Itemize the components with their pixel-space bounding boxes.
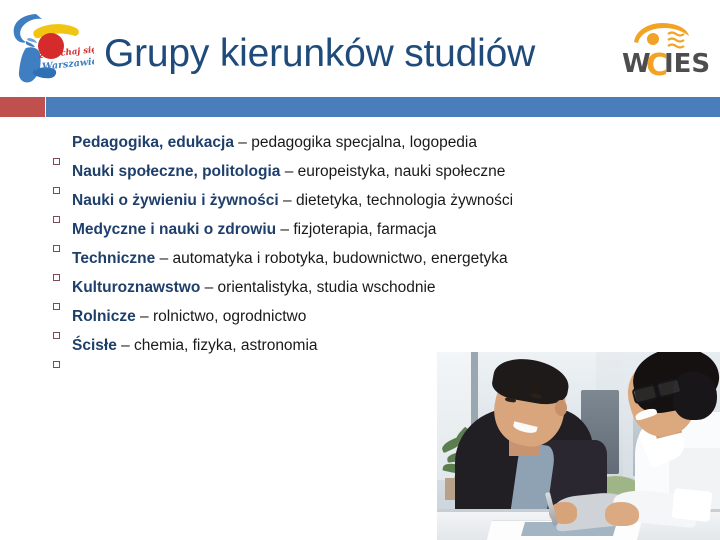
presentation-slide: zakochaj się w Warszawie Grupy kierunków… <box>0 0 720 540</box>
bullet-list: Pedagogika, edukacja – pedagogika specja… <box>50 128 680 360</box>
list-item: Nauki o żywieniu i żywności – dietetyka,… <box>50 186 680 215</box>
photo-man-ear <box>555 400 567 416</box>
zakochaj-sie-w-warszawie-logo: zakochaj się w Warszawie <box>6 8 94 86</box>
list-item-detail: – pedagogika specjalna, logopedia <box>234 134 477 151</box>
list-item-text: Ścisłe – chemia, fizyka, astronomia <box>72 331 318 360</box>
list-item: Pedagogika, edukacja – pedagogika specja… <box>50 128 680 157</box>
list-item-label: Nauki o żywieniu i żywności <box>72 192 279 209</box>
list-item-label: Techniczne <box>72 250 155 267</box>
photo-woman-hand <box>605 502 639 526</box>
list-item: Kulturoznawstwo – orientalistyka, studia… <box>50 273 680 302</box>
list-item: Medyczne i nauki o zdrowiu – fizjoterapi… <box>50 215 680 244</box>
list-item-detail: – europeistyka, nauki społeczne <box>280 163 505 180</box>
list-item-label: Ścisłe <box>72 337 117 354</box>
list-item: Rolnicze – rolnictwo, ogrodnictwo <box>50 302 680 331</box>
list-item-text: Kulturoznawstwo – orientalistyka, studia… <box>72 273 436 302</box>
list-item-text: Pedagogika, edukacja – pedagogika specja… <box>72 128 477 157</box>
list-item-detail: – dietetyka, technologia żywności <box>279 192 513 209</box>
wcies-wordmark-ies: IES <box>664 49 710 79</box>
page-title: Grupy kierunków studiów <box>104 26 614 82</box>
photo-woman-hair-back <box>673 372 717 420</box>
list-item: Nauki społeczne, politologia – europeist… <box>50 157 680 186</box>
list-item-label: Pedagogika, edukacja <box>72 134 234 151</box>
list-item-text: Rolnicze – rolnictwo, ogrodnictwo <box>72 302 306 331</box>
list-item-detail: – orientalistyka, studia wschodnie <box>200 279 435 296</box>
list-item-label: Kulturoznawstwo <box>72 279 200 296</box>
photo-woman-cuff <box>672 488 713 522</box>
list-item-detail: – chemia, fizyka, astronomia <box>117 337 318 354</box>
list-item-detail: – rolnictwo, ogrodnictwo <box>136 308 307 325</box>
list-item-text: Nauki o żywieniu i żywności – dietetyka,… <box>72 186 513 215</box>
wcies-logo: W IES C <box>620 18 712 84</box>
list-item-text: Nauki społeczne, politologia – europeist… <box>72 157 505 186</box>
divider-bar-blue <box>46 97 720 117</box>
list-item-text: Techniczne – automatyka i robotyka, budo… <box>72 244 508 273</box>
list-item-label: Rolnicze <box>72 308 136 325</box>
list-item-detail: – automatyka i robotyka, budownictwo, en… <box>155 250 507 267</box>
list-item-label: Nauki społeczne, politologia <box>72 163 280 180</box>
wcies-wordmark-c: C <box>646 48 668 83</box>
list-item-detail: – fizjoterapia, farmacja <box>276 221 436 238</box>
list-item-label: Medyczne i nauki o zdrowiu <box>72 221 276 238</box>
list-item-text: Medyczne i nauki o zdrowiu – fizjoterapi… <box>72 215 436 244</box>
photo-two-people-at-table <box>437 352 720 540</box>
divider-bar-red <box>0 97 45 117</box>
list-item: Techniczne – automatyka i robotyka, budo… <box>50 244 680 273</box>
